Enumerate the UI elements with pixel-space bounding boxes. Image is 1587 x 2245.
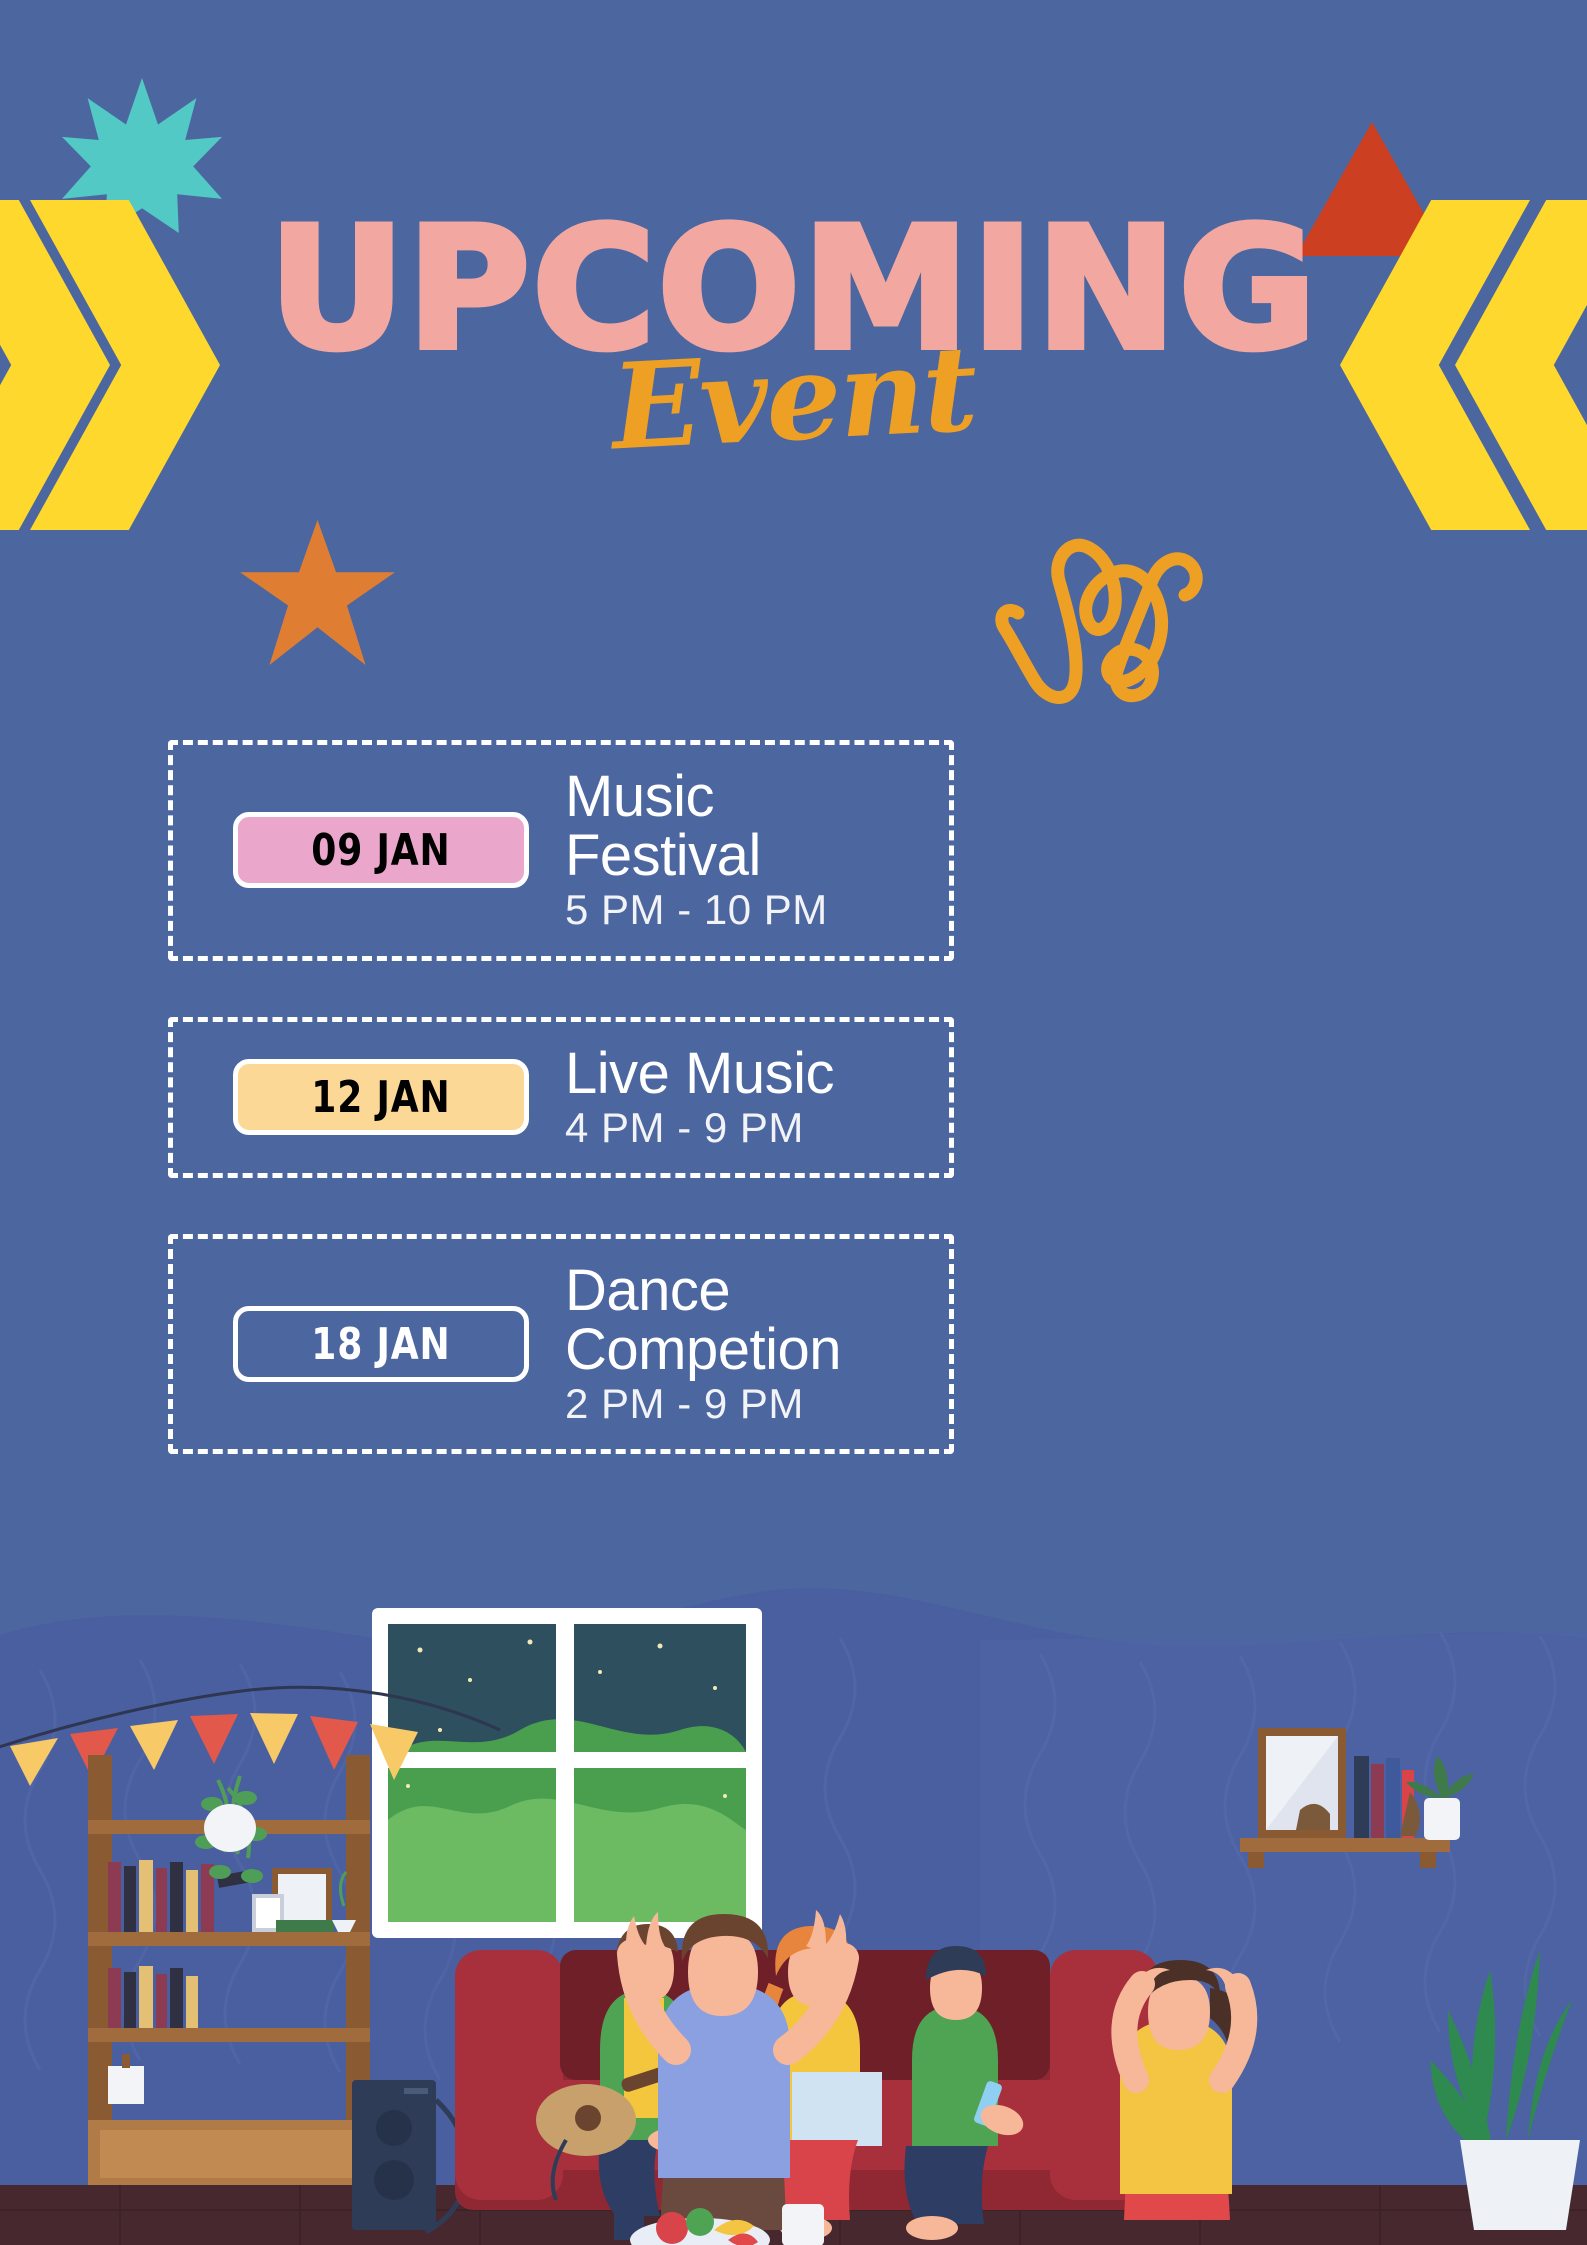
list-item[interactable]: 09 JAN Music Festival 5 PM - 10 PM bbox=[168, 740, 954, 961]
poster-heading: UPCOMING Event bbox=[0, 210, 1587, 370]
upcoming-event-poster: UPCOMING Event 09 JAN Music Festival 5 P… bbox=[0, 0, 1587, 2245]
person-yellow-top-dancer bbox=[1120, 1960, 1246, 2220]
list-item[interactable]: 12 JAN Live Music 4 PM - 9 PM bbox=[168, 1017, 954, 1178]
event-date-badge: 12 JAN bbox=[233, 1059, 529, 1135]
event-date-label: 18 JAN bbox=[311, 1319, 450, 1370]
event-details: Music Festival 5 PM - 10 PM bbox=[565, 767, 923, 934]
event-name: Music Festival bbox=[565, 767, 923, 885]
event-date-badge: 09 JAN bbox=[233, 812, 529, 888]
event-date-label: 12 JAN bbox=[311, 1072, 450, 1123]
event-details: Dance Competion 2 PM - 9 PM bbox=[565, 1261, 923, 1428]
squiggle-icon bbox=[985, 505, 1245, 730]
house-party-illustration bbox=[0, 1580, 1587, 2245]
list-item[interactable]: 18 JAN Dance Competion 2 PM - 9 PM bbox=[168, 1234, 954, 1455]
cup-icon bbox=[782, 2204, 824, 2245]
event-name: Live Music bbox=[565, 1044, 834, 1103]
event-name: Dance Competion bbox=[565, 1261, 923, 1379]
five-point-star-icon bbox=[240, 520, 395, 665]
event-time: 4 PM - 9 PM bbox=[565, 1105, 834, 1151]
event-time: 2 PM - 9 PM bbox=[565, 1381, 923, 1427]
window-icon bbox=[372, 1608, 762, 1938]
event-time: 5 PM - 10 PM bbox=[565, 887, 923, 933]
event-date-badge: 18 JAN bbox=[233, 1306, 529, 1382]
event-date-label: 09 JAN bbox=[311, 825, 450, 876]
event-details: Live Music 4 PM - 9 PM bbox=[565, 1044, 834, 1151]
event-list: 09 JAN Music Festival 5 PM - 10 PM 12 JA… bbox=[168, 740, 954, 1454]
